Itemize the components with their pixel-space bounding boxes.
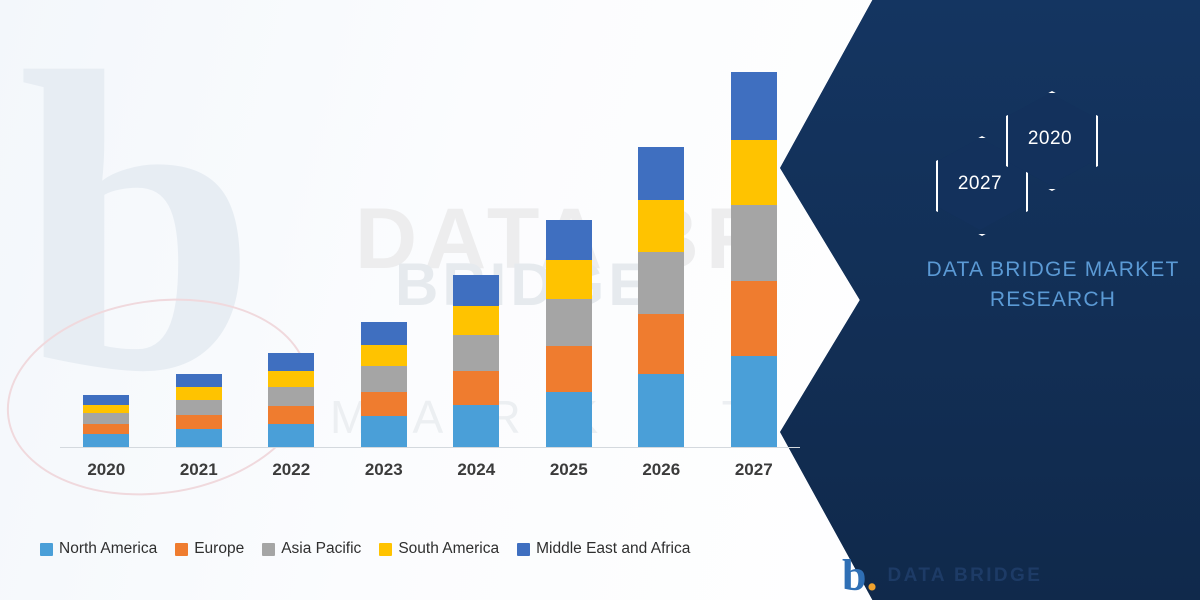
legend-item[interactable]: Middle East and Africa [517, 540, 690, 558]
bar-segment[interactable] [731, 140, 777, 205]
bar-segment[interactable] [453, 275, 499, 306]
bar-segment[interactable] [546, 346, 592, 391]
bar-column [261, 353, 321, 447]
bar-segment[interactable] [546, 299, 592, 346]
bar-segment[interactable] [268, 353, 314, 371]
bar-column [446, 275, 506, 447]
brand-name-line1: DATA BRIDGE MARKET [908, 255, 1198, 285]
legend-item[interactable]: Asia Pacific [262, 540, 361, 558]
stacked-bar-2021[interactable] [176, 374, 222, 447]
x-axis-tick-2022: 2022 [261, 460, 321, 480]
legend-item[interactable]: North America [40, 540, 157, 558]
bar-column [169, 374, 229, 447]
hexagon-badge-2027-label: 2027 [958, 173, 1002, 195]
chart-plot-area: 20202021202220232024202520262027 [60, 60, 800, 500]
brand-name: DATA BRIDGE MARKET RESEARCH [908, 255, 1198, 315]
bar-segment[interactable] [83, 424, 129, 434]
bar-segment[interactable] [268, 387, 314, 406]
x-axis-tick-2024: 2024 [446, 460, 506, 480]
bar-segment[interactable] [638, 314, 684, 374]
stacked-bar-2020[interactable] [83, 395, 129, 447]
legend-swatch-icon [379, 543, 392, 556]
x-axis-tick-2027: 2027 [724, 460, 784, 480]
x-axis-tick-2026: 2026 [631, 460, 691, 480]
bar-segment[interactable] [83, 405, 129, 413]
stacked-bar-2025[interactable] [546, 220, 592, 447]
bar-segment[interactable] [731, 281, 777, 356]
bar-segment[interactable] [176, 400, 222, 415]
brand-name-line2: RESEARCH [908, 285, 1198, 315]
stacked-bar-2023[interactable] [361, 322, 407, 447]
bar-segment[interactable] [453, 306, 499, 335]
stacked-bar-2027[interactable] [731, 72, 777, 447]
stacked-bar-2026[interactable] [638, 147, 684, 447]
bar-segment[interactable] [638, 252, 684, 314]
legend-label: Asia Pacific [281, 540, 361, 558]
legend-swatch-icon [262, 543, 275, 556]
bar-column [631, 147, 691, 447]
bar-column [724, 72, 784, 447]
bar-segment[interactable] [453, 371, 499, 405]
hexagon-badge-2020-label: 2020 [1028, 128, 1072, 150]
logo-mark-icon: b. [842, 556, 877, 596]
bar-segment[interactable] [638, 374, 684, 447]
bar-column [354, 322, 414, 447]
legend-item[interactable]: Europe [175, 540, 244, 558]
legend-label: South America [398, 540, 499, 558]
x-axis-tick-2023: 2023 [354, 460, 414, 480]
bar-segment[interactable] [731, 72, 777, 140]
x-axis-tick-2020: 2020 [76, 460, 136, 480]
chart-legend: North AmericaEuropeAsia PacificSouth Ame… [40, 540, 830, 558]
bar-segment[interactable] [453, 405, 499, 447]
bar-segment[interactable] [176, 429, 222, 447]
bar-segment[interactable] [83, 413, 129, 424]
bar-segment[interactable] [731, 205, 777, 281]
x-axis-line [60, 447, 800, 448]
logo-wordmark: DATA BRIDGE [887, 565, 1042, 587]
bar-segment[interactable] [546, 392, 592, 447]
legend-label: North America [59, 540, 157, 558]
bar-segment[interactable] [638, 200, 684, 252]
hexagon-badge-2020: 2020 [1006, 91, 1094, 187]
bar-segment[interactable] [176, 387, 222, 400]
stacked-bar-2024[interactable] [453, 275, 499, 447]
bar-column [539, 220, 599, 447]
stacked-bar-chart: 20202021202220232024202520262027 [40, 60, 820, 510]
bar-segment[interactable] [268, 424, 314, 447]
bar-segment[interactable] [361, 392, 407, 416]
bar-segment[interactable] [453, 335, 499, 371]
legend-label: Europe [194, 540, 244, 558]
bar-segment[interactable] [546, 260, 592, 299]
bar-column [76, 395, 136, 447]
bar-segment[interactable] [268, 371, 314, 387]
legend-label: Middle East and Africa [536, 540, 690, 558]
bar-group [60, 62, 800, 447]
legend-swatch-icon [517, 543, 530, 556]
x-axis-tick-2021: 2021 [169, 460, 229, 480]
bar-segment[interactable] [361, 322, 407, 345]
x-axis-tick-2025: 2025 [539, 460, 599, 480]
bar-segment[interactable] [731, 356, 777, 447]
bar-segment[interactable] [638, 147, 684, 201]
x-axis-labels: 20202021202220232024202520262027 [60, 460, 800, 480]
company-logo: b. DATA BRIDGE [842, 556, 1042, 596]
bar-segment[interactable] [176, 374, 222, 387]
legend-swatch-icon [40, 543, 53, 556]
legend-swatch-icon [175, 543, 188, 556]
bar-segment[interactable] [361, 416, 407, 447]
screenshot-root: b DATA BR BRIDGE M A R K E T R E S E A R… [0, 0, 1200, 600]
legend-item[interactable]: South America [379, 540, 499, 558]
bar-segment[interactable] [83, 434, 129, 447]
bar-segment[interactable] [176, 415, 222, 430]
bar-segment[interactable] [361, 345, 407, 366]
bar-segment[interactable] [361, 366, 407, 392]
bar-segment[interactable] [83, 395, 129, 405]
bar-segment[interactable] [546, 220, 592, 261]
stacked-bar-2022[interactable] [268, 353, 314, 447]
bar-segment[interactable] [268, 406, 314, 424]
